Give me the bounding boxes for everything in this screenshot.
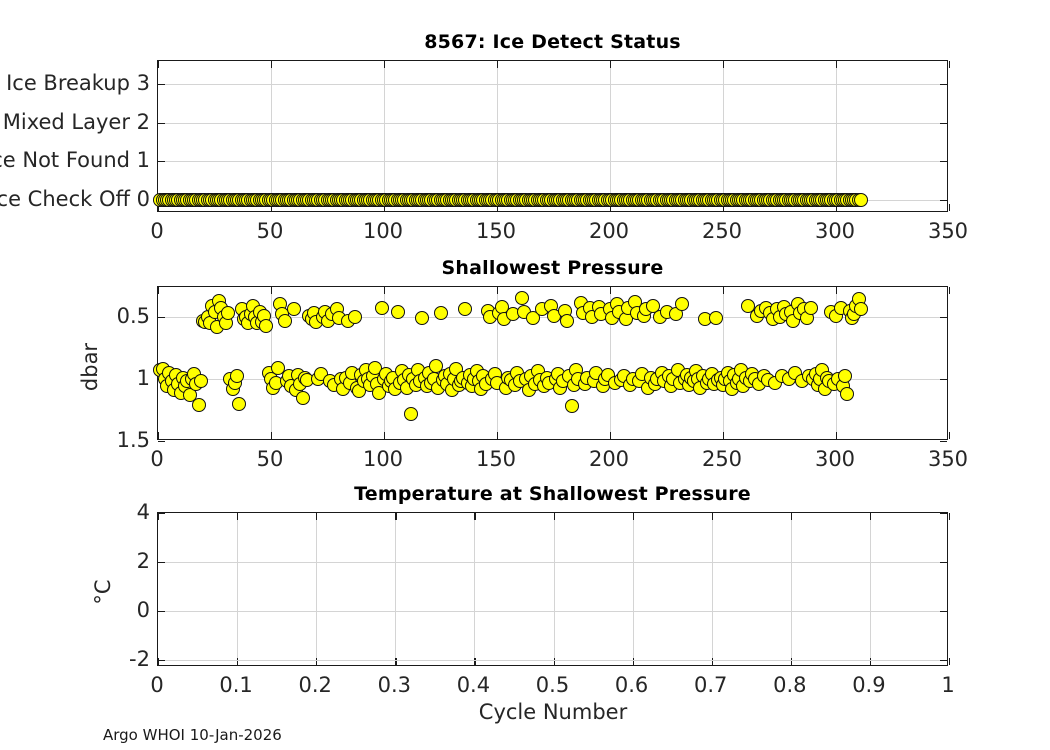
plot2-title: Shallowest Pressure [157,257,948,279]
plot3-y-axis-title: °C [91,567,115,617]
y-tick-label: Ice Mixed Layer 2 [0,110,150,134]
x-gridline [712,513,713,665]
y-tick-mark [158,441,165,442]
y-tick-mark [940,379,947,380]
y-tick-label: 1.5 [0,428,150,452]
x-tick-mark [723,61,724,68]
x-tick-label: 350 [928,447,968,471]
x-tick-label: 0 [150,673,163,697]
data-point-marker [259,319,273,333]
x-tick-label: 250 [702,219,742,243]
y-tick-label: 0.5 [0,304,150,328]
x-tick-label: 150 [476,447,516,471]
x-tick-mark [949,61,950,68]
x-tick-mark [384,287,385,294]
y-tick-mark [940,317,947,318]
x-tick-mark [384,61,385,68]
plot3-title: Temperature at Shallowest Pressure [157,483,948,505]
x-tick-label: 0.8 [773,673,806,697]
data-point-marker [296,391,310,405]
data-point-marker [804,301,818,315]
x-tick-mark [949,513,950,520]
x-tick-label: 150 [476,219,516,243]
x-tick-label: 100 [363,219,403,243]
x-tick-mark [723,432,724,439]
y-gridline [158,660,947,661]
x-tick-mark [949,432,950,439]
data-point-marker [192,398,206,412]
data-point-marker [458,302,472,316]
x-tick-mark [158,432,159,439]
x-tick-label: 0.7 [694,673,727,697]
y-tick-mark [940,200,947,201]
x-tick-mark [384,432,385,439]
data-point-marker [221,306,235,320]
x-gridline [791,513,792,665]
y-tick-label: Ice Check Off 0 [0,187,150,211]
x-tick-mark [158,287,159,294]
x-tick-mark [610,432,611,439]
y-tick-mark [158,513,165,514]
x-tick-label: 50 [257,219,284,243]
data-point-marker [391,305,405,319]
y-tick-mark [158,611,165,612]
data-point-marker [838,369,852,383]
x-axis-title: Cycle Number [479,700,627,724]
x-tick-mark [633,513,634,520]
x-gridline [237,513,238,665]
x-tick-mark [271,432,272,439]
x-tick-mark [949,287,950,294]
x-tick-mark [949,204,950,211]
y-tick-mark [158,123,165,124]
y-tick-mark [158,161,165,162]
x-tick-mark [791,513,792,520]
data-point-marker [404,407,418,421]
x-tick-label: 0.5 [536,673,569,697]
y-tick-mark [158,317,165,318]
y-tick-mark [940,660,947,661]
plot1-title: 8567: Ice Detect Status [157,31,948,53]
y-tick-mark [940,513,947,514]
y-tick-label: 0 [0,598,150,622]
y-tick-mark [940,611,947,612]
x-tick-label: 1 [941,673,954,697]
x-tick-mark [497,287,498,294]
data-point-marker [287,302,301,316]
y-tick-mark [940,123,947,124]
x-tick-mark [237,513,238,520]
plot3-axes [157,512,948,666]
x-tick-mark [316,513,317,520]
data-point-marker [434,306,448,320]
x-tick-mark [554,513,555,520]
x-tick-mark [271,61,272,68]
x-tick-label: 0.2 [298,673,331,697]
x-tick-label: 100 [363,447,403,471]
data-point-marker [854,302,868,316]
argo-ice-detect-figure: 8567: Ice Detect Status Ice Check Off 0I… [0,0,1050,750]
x-tick-label: 250 [702,447,742,471]
x-gridline [554,513,555,665]
data-point-marker [194,374,208,388]
data-point-marker [854,193,868,207]
x-tick-label: 0.6 [615,673,648,697]
x-gridline [316,513,317,665]
x-tick-mark [474,513,475,520]
y-tick-label: Ice Breakup 3 [0,71,150,95]
x-tick-label: 300 [815,447,855,471]
x-tick-label: 0.9 [852,673,885,697]
x-tick-mark [949,658,950,665]
x-gridline [395,513,396,665]
x-tick-mark [395,513,396,520]
y-tick-mark [940,562,947,563]
y-tick-label: 2 [0,549,150,573]
data-point-marker [375,301,389,315]
x-tick-label: 350 [928,219,968,243]
y-gridline [158,611,947,612]
x-tick-mark [497,432,498,439]
x-tick-label: 0.3 [378,673,411,697]
data-point-marker [560,314,574,328]
x-tick-label: 200 [589,447,629,471]
y-gridline [158,123,947,124]
data-point-marker [709,311,723,325]
y-gridline [158,84,947,85]
plot1-axes [157,60,948,212]
x-tick-mark [836,432,837,439]
y-tick-mark [940,161,947,162]
x-gridline [870,513,871,665]
plot2-y-axis-title: dbar [78,337,102,397]
data-point-marker [230,369,244,383]
plot2-axes [157,286,948,440]
data-point-marker [565,399,579,413]
x-gridline [723,287,724,439]
data-point-marker [232,397,246,411]
x-gridline [474,513,475,665]
x-tick-mark [610,287,611,294]
y-tick-label: -2 [0,647,150,671]
y-gridline [158,161,947,162]
x-tick-mark [712,513,713,520]
x-tick-mark [158,61,159,68]
x-tick-label: 0.1 [219,673,252,697]
x-tick-mark [497,61,498,68]
x-tick-label: 0.4 [457,673,490,697]
x-tick-label: 50 [257,447,284,471]
footer-credit: Argo WHOI 10-Jan-2026 [103,726,282,744]
y-tick-mark [158,562,165,563]
y-tick-mark [158,660,165,661]
data-point-marker [515,291,529,305]
x-tick-label: 0 [150,219,163,243]
x-tick-mark [271,287,272,294]
y-tick-mark [940,441,947,442]
x-tick-mark [836,287,837,294]
y-gridline [158,562,947,563]
y-tick-label: 4 [0,500,150,524]
y-tick-mark [158,84,165,85]
y-tick-label: Ice Not Found 1 [0,148,150,172]
y-tick-mark [940,84,947,85]
x-tick-label: 200 [589,219,629,243]
x-tick-label: 0 [150,447,163,471]
x-tick-mark [723,287,724,294]
data-point-marker [348,310,362,324]
x-tick-label: 300 [815,219,855,243]
data-point-marker [415,311,429,325]
y-tick-label: 1 [0,366,150,390]
x-tick-mark [610,61,611,68]
x-gridline [633,513,634,665]
data-point-marker [840,387,854,401]
x-tick-mark [836,61,837,68]
data-point-marker [675,297,689,311]
x-tick-mark [870,513,871,520]
data-point-marker [278,314,292,328]
